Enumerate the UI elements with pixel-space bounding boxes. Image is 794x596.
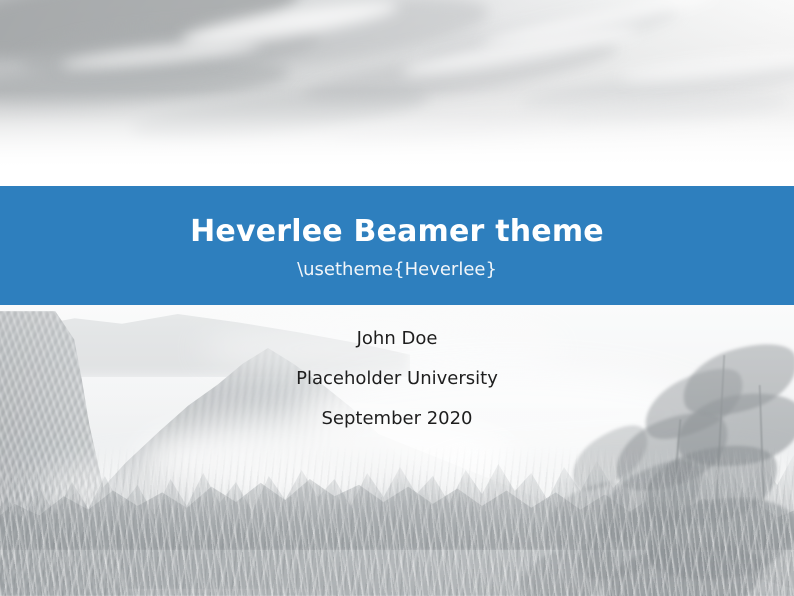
foreground-grass (0, 446, 794, 596)
author-institute: Placeholder University (0, 370, 794, 388)
grass-blades (0, 446, 794, 596)
author-block: John Doe Placeholder University Septembe… (0, 330, 794, 428)
sky-bottom-fade (0, 90, 794, 186)
presentation-date: September 2020 (0, 410, 794, 428)
author-name: John Doe (0, 330, 794, 348)
page-subtitle: \usetheme{Heverlee} (297, 260, 497, 280)
page-title: Heverlee Beamer theme (190, 215, 604, 248)
sky-clouds-photo (0, 0, 794, 186)
title-slide: Heverlee Beamer theme \usetheme{Heverlee… (0, 0, 794, 596)
title-band: Heverlee Beamer theme \usetheme{Heverlee… (0, 186, 794, 305)
